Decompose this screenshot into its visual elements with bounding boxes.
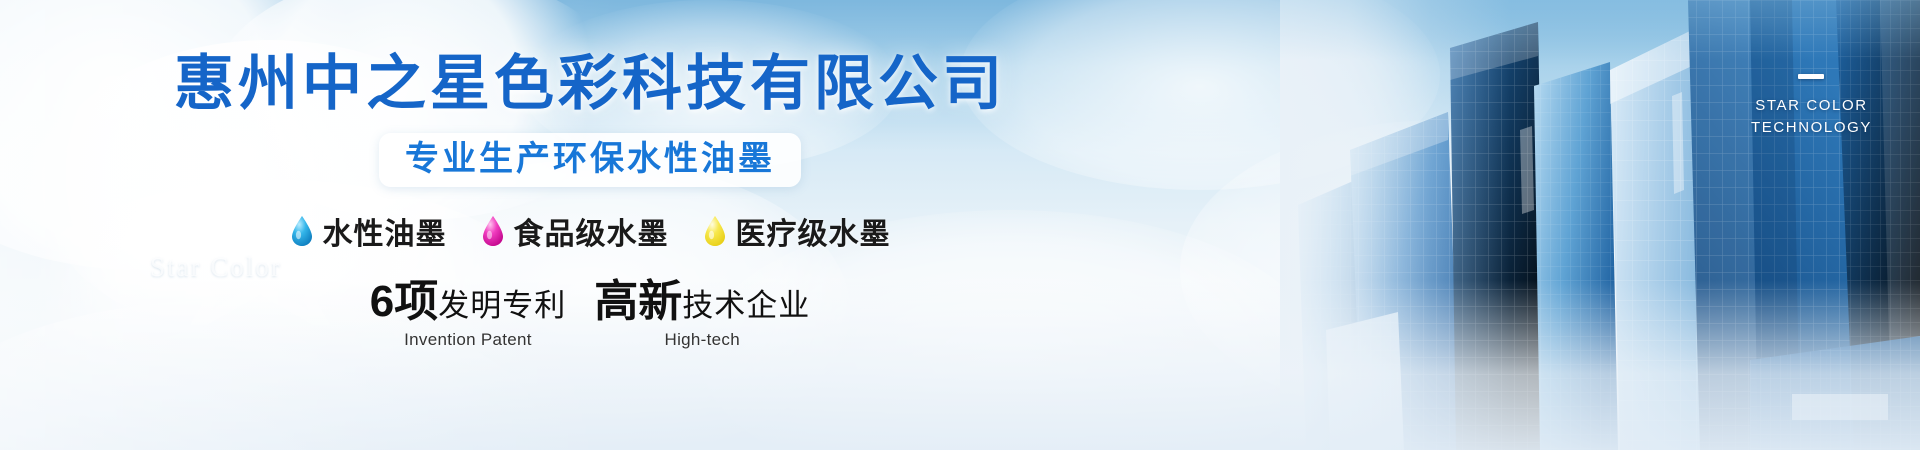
credential-badges: 6项发明专利 Invention Patent 高新技术企业 High-tech xyxy=(370,279,810,350)
feature-label: 水性油墨 xyxy=(323,209,447,253)
badge-en-text: Invention Patent xyxy=(370,330,566,350)
feature-item: 医疗级水墨 xyxy=(703,209,891,253)
badge-strong-text: 高新 xyxy=(594,277,682,326)
subtitle-pill: 专业生产环保水性油墨 xyxy=(379,133,801,187)
banner-content: 惠州中之星色彩科技有限公司 专业生产环保水性油墨 水性油 xyxy=(0,0,1180,450)
badge-invention-patent: 6项发明专利 Invention Patent xyxy=(370,279,566,350)
subtitle-text: 专业生产环保水性油墨 xyxy=(405,140,775,178)
badge-strong-text: 6项 xyxy=(370,277,438,326)
feature-list: 水性油墨 食品级水墨 xyxy=(290,209,891,253)
company-banner: STAR COLOR TECHNOLOGY Star Color 惠州中之星色彩… xyxy=(0,0,1920,450)
feature-label: 食品级水墨 xyxy=(514,209,669,253)
water-drop-icon xyxy=(703,215,727,247)
water-drop-icon xyxy=(481,215,505,247)
feature-item: 食品级水墨 xyxy=(481,209,669,253)
water-drop-icon xyxy=(290,215,314,247)
badge-rest-text: 技术企业 xyxy=(682,288,810,323)
badge-rest-text: 发明专利 xyxy=(438,288,566,323)
badge-high-tech: 高新技术企业 High-tech xyxy=(594,279,810,350)
badge-cn-text: 6项发明专利 xyxy=(370,279,566,326)
badge-cn-text: 高新技术企业 xyxy=(594,279,810,326)
feature-item: 水性油墨 xyxy=(290,209,447,253)
badge-en-text: High-tech xyxy=(594,330,810,350)
page-title: 惠州中之星色彩科技有限公司 xyxy=(174,52,1006,117)
feature-label: 医疗级水墨 xyxy=(736,209,891,253)
